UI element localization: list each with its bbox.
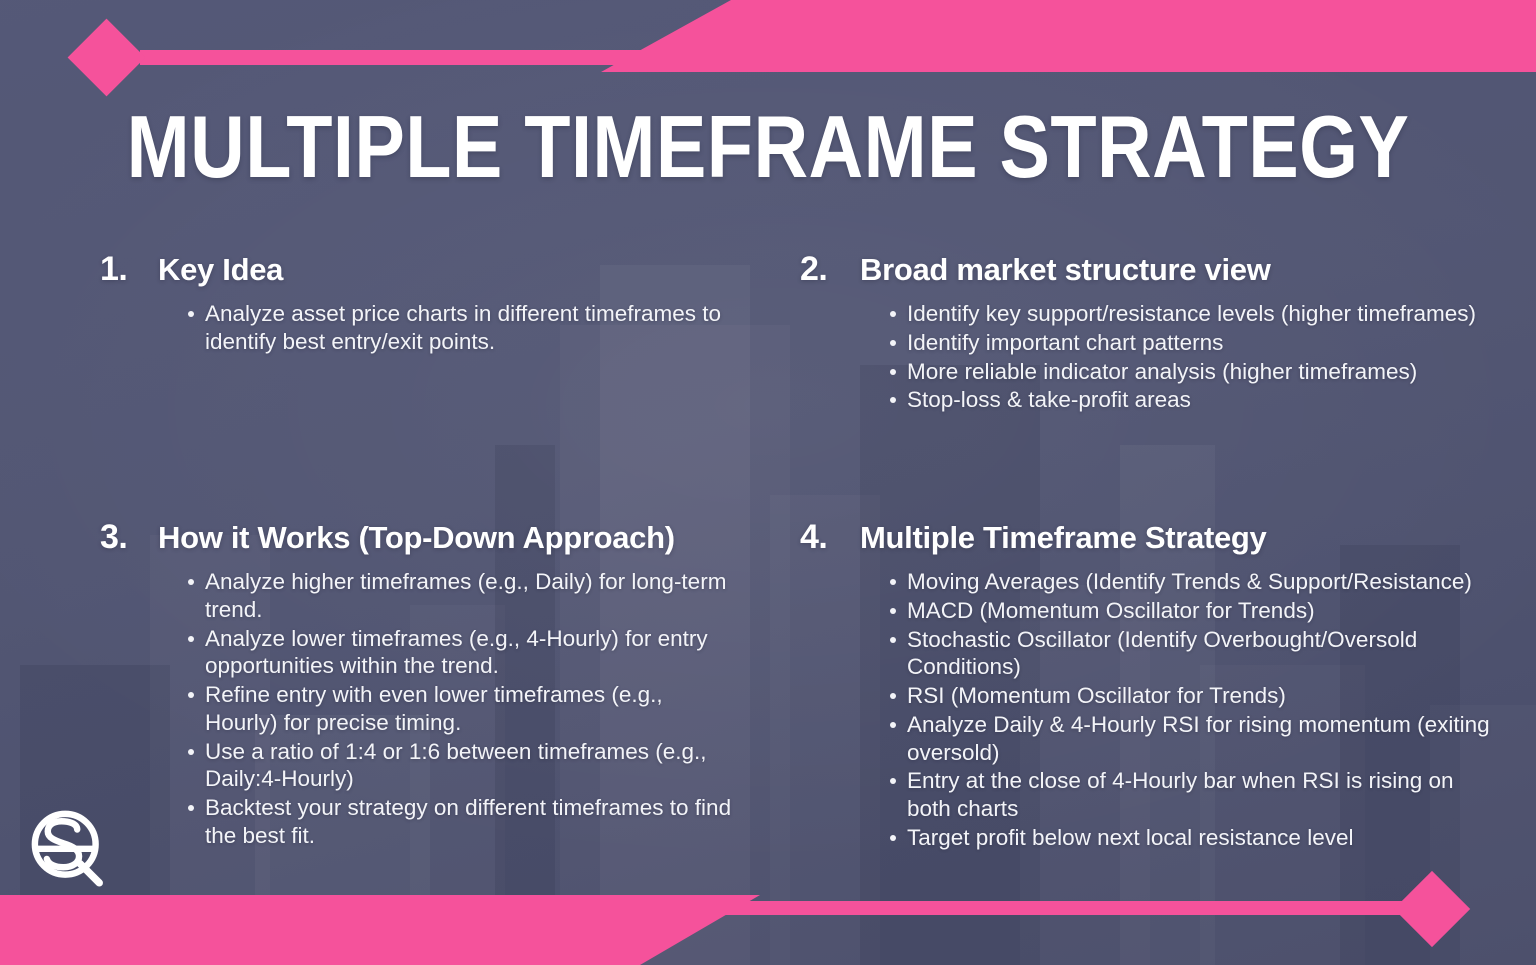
section-1-title: Key Idea	[158, 252, 283, 288]
list-item: Stochastic Oscillator (Identify Overboug…	[890, 626, 1490, 682]
section-3: 3. How it Works (Top-Down Approach) Anal…	[100, 518, 790, 853]
bottom-accent-rule	[289, 901, 1424, 915]
page-title: MULTIPLE TIMEFRAME STRATEGY	[108, 103, 1429, 191]
list-item: Analyze asset price charts in different …	[188, 300, 736, 356]
list-item: Analyze Daily & 4-Hourly RSI for rising …	[890, 711, 1490, 767]
top-diamond-icon	[68, 19, 146, 97]
top-accent-rule	[140, 50, 1415, 65]
section-2-header: 2. Broad market structure view	[800, 250, 1536, 289]
section-1-number: 1.	[100, 250, 158, 289]
bottom-diamond-icon	[1394, 871, 1470, 947]
section-4: 4. Multiple Timeframe Strategy Moving Av…	[790, 518, 1536, 853]
list-item: Analyze lower timeframes (e.g., 4-Hourly…	[188, 625, 736, 681]
list-item: Target profit below next local resistanc…	[890, 824, 1490, 852]
list-item: Moving Averages (Identify Trends & Suppo…	[890, 568, 1490, 596]
list-item: RSI (Momentum Oscillator for Trends)	[890, 682, 1490, 710]
sections-grid: 1. Key Idea Analyze asset price charts i…	[0, 250, 1536, 853]
section-3-number: 3.	[100, 518, 158, 557]
list-item: Identify key support/resistance levels (…	[890, 300, 1490, 328]
list-item: Analyze higher timeframes (e.g., Daily) …	[188, 568, 736, 624]
section-1: 1. Key Idea Analyze asset price charts i…	[100, 250, 790, 518]
section-3-bullets: Analyze higher timeframes (e.g., Daily) …	[100, 568, 790, 850]
section-1-bullets: Analyze asset price charts in different …	[100, 300, 790, 356]
section-4-title: Multiple Timeframe Strategy	[860, 520, 1267, 556]
infographic-slide: MULTIPLE TIMEFRAME STRATEGY 1. Key Idea …	[0, 0, 1536, 965]
section-2: 2. Broad market structure view Identify …	[790, 250, 1536, 518]
list-item: Entry at the close of 4-Hourly bar when …	[890, 767, 1490, 823]
section-4-number: 4.	[800, 518, 860, 557]
section-3-header: 3. How it Works (Top-Down Approach)	[100, 518, 790, 557]
section-3-title: How it Works (Top-Down Approach)	[158, 520, 675, 556]
section-2-title: Broad market structure view	[860, 252, 1271, 288]
list-item: MACD (Momentum Oscillator for Trends)	[890, 597, 1490, 625]
list-item: Refine entry with even lower timeframes …	[188, 681, 736, 737]
list-item: More reliable indicator analysis (higher…	[890, 358, 1490, 386]
list-item: Stop-loss & take-profit areas	[890, 386, 1490, 414]
list-item: Backtest your strategy on different time…	[188, 794, 736, 850]
section-1-header: 1. Key Idea	[100, 250, 790, 289]
section-2-number: 2.	[800, 250, 860, 289]
section-4-header: 4. Multiple Timeframe Strategy	[800, 518, 1536, 557]
section-4-bullets: Moving Averages (Identify Trends & Suppo…	[800, 568, 1536, 852]
section-2-bullets: Identify key support/resistance levels (…	[800, 300, 1536, 414]
sq-logo-icon	[22, 801, 114, 893]
list-item: Use a ratio of 1:4 or 1:6 between timefr…	[188, 738, 736, 794]
list-item: Identify important chart patterns	[890, 329, 1490, 357]
